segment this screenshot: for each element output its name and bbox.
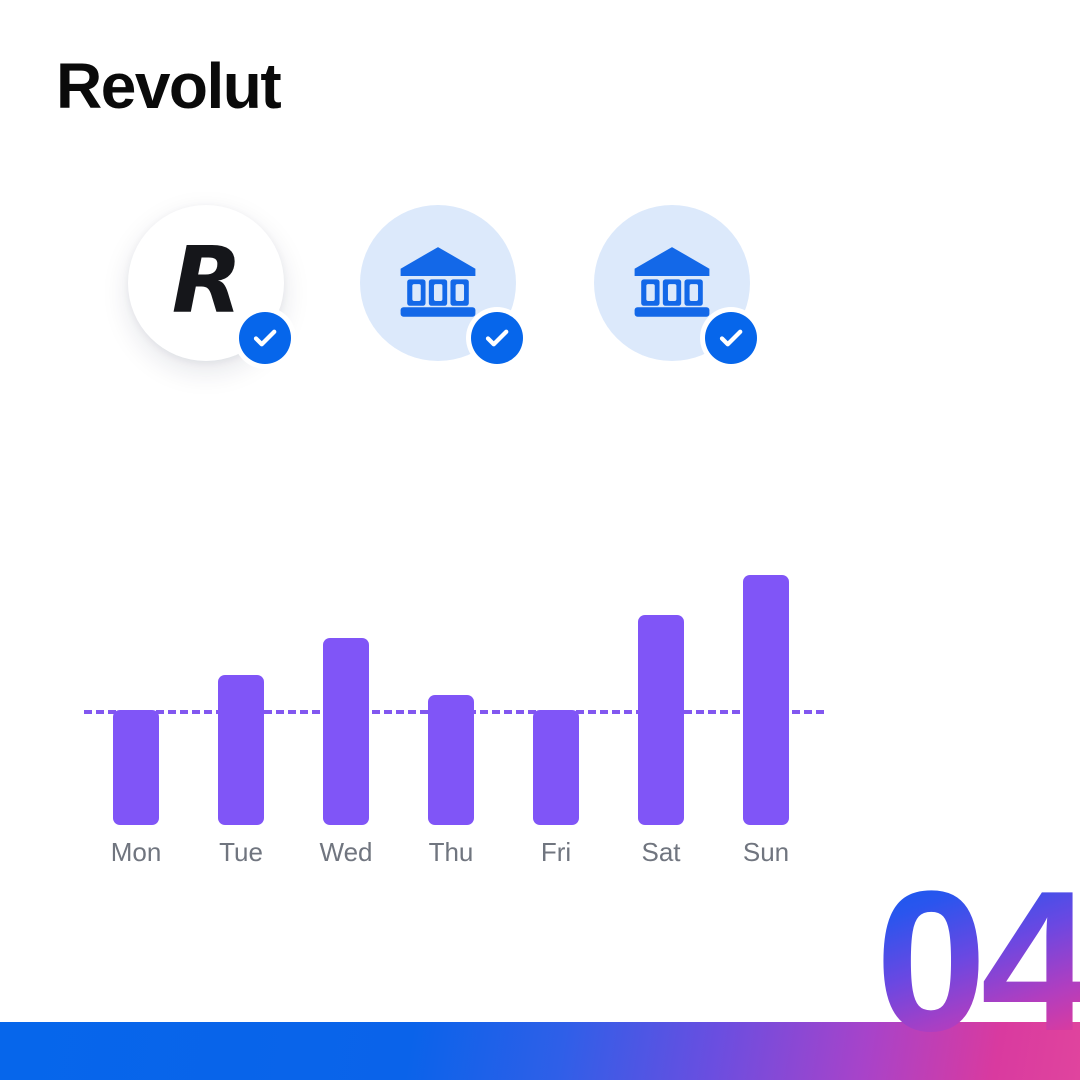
x-label-tue: Tue [196, 835, 286, 869]
chart-x-axis-labels: MonTueWedThuFriSatSun [84, 835, 824, 875]
bar-fill [638, 615, 684, 825]
bar-fri[interactable] [533, 545, 579, 825]
x-label-wed: Wed [301, 835, 391, 869]
bar-fill [533, 710, 579, 825]
bank-icon [394, 239, 482, 327]
bar-fill [428, 695, 474, 825]
slide-number: 04 [876, 862, 1080, 1062]
bar-fill [218, 675, 264, 825]
chart-plot-area [84, 545, 824, 825]
verified-accounts-row: R [128, 200, 828, 390]
weekly-activity-bar-chart: MonTueWedThuFriSatSun [84, 545, 824, 885]
brand-wordmark: Revolut [56, 54, 280, 118]
x-label-fri: Fri [511, 835, 601, 869]
slide-canvas: Revolut R [0, 0, 1080, 1080]
bank-icon [628, 239, 716, 327]
x-label-thu: Thu [406, 835, 496, 869]
account-chip-revolut[interactable]: R [128, 205, 284, 361]
x-label-sun: Sun [721, 835, 811, 869]
x-label-sat: Sat [616, 835, 706, 869]
account-chip-bank-2[interactable] [594, 205, 750, 361]
account-chip-bank-1[interactable] [360, 205, 516, 361]
check-badge-icon [466, 307, 528, 369]
bar-sat[interactable] [638, 545, 684, 825]
x-label-mon: Mon [91, 835, 181, 869]
check-badge-icon [700, 307, 762, 369]
bar-fill [113, 710, 159, 825]
revolut-r-logo-icon: R [172, 235, 241, 327]
bar-sun[interactable] [743, 545, 789, 825]
bar-thu[interactable] [428, 545, 474, 825]
bar-fill [743, 575, 789, 825]
bar-mon[interactable] [113, 545, 159, 825]
check-badge-icon [234, 307, 296, 369]
bar-fill [323, 638, 369, 826]
bar-wed[interactable] [323, 545, 369, 825]
bar-tue[interactable] [218, 545, 264, 825]
